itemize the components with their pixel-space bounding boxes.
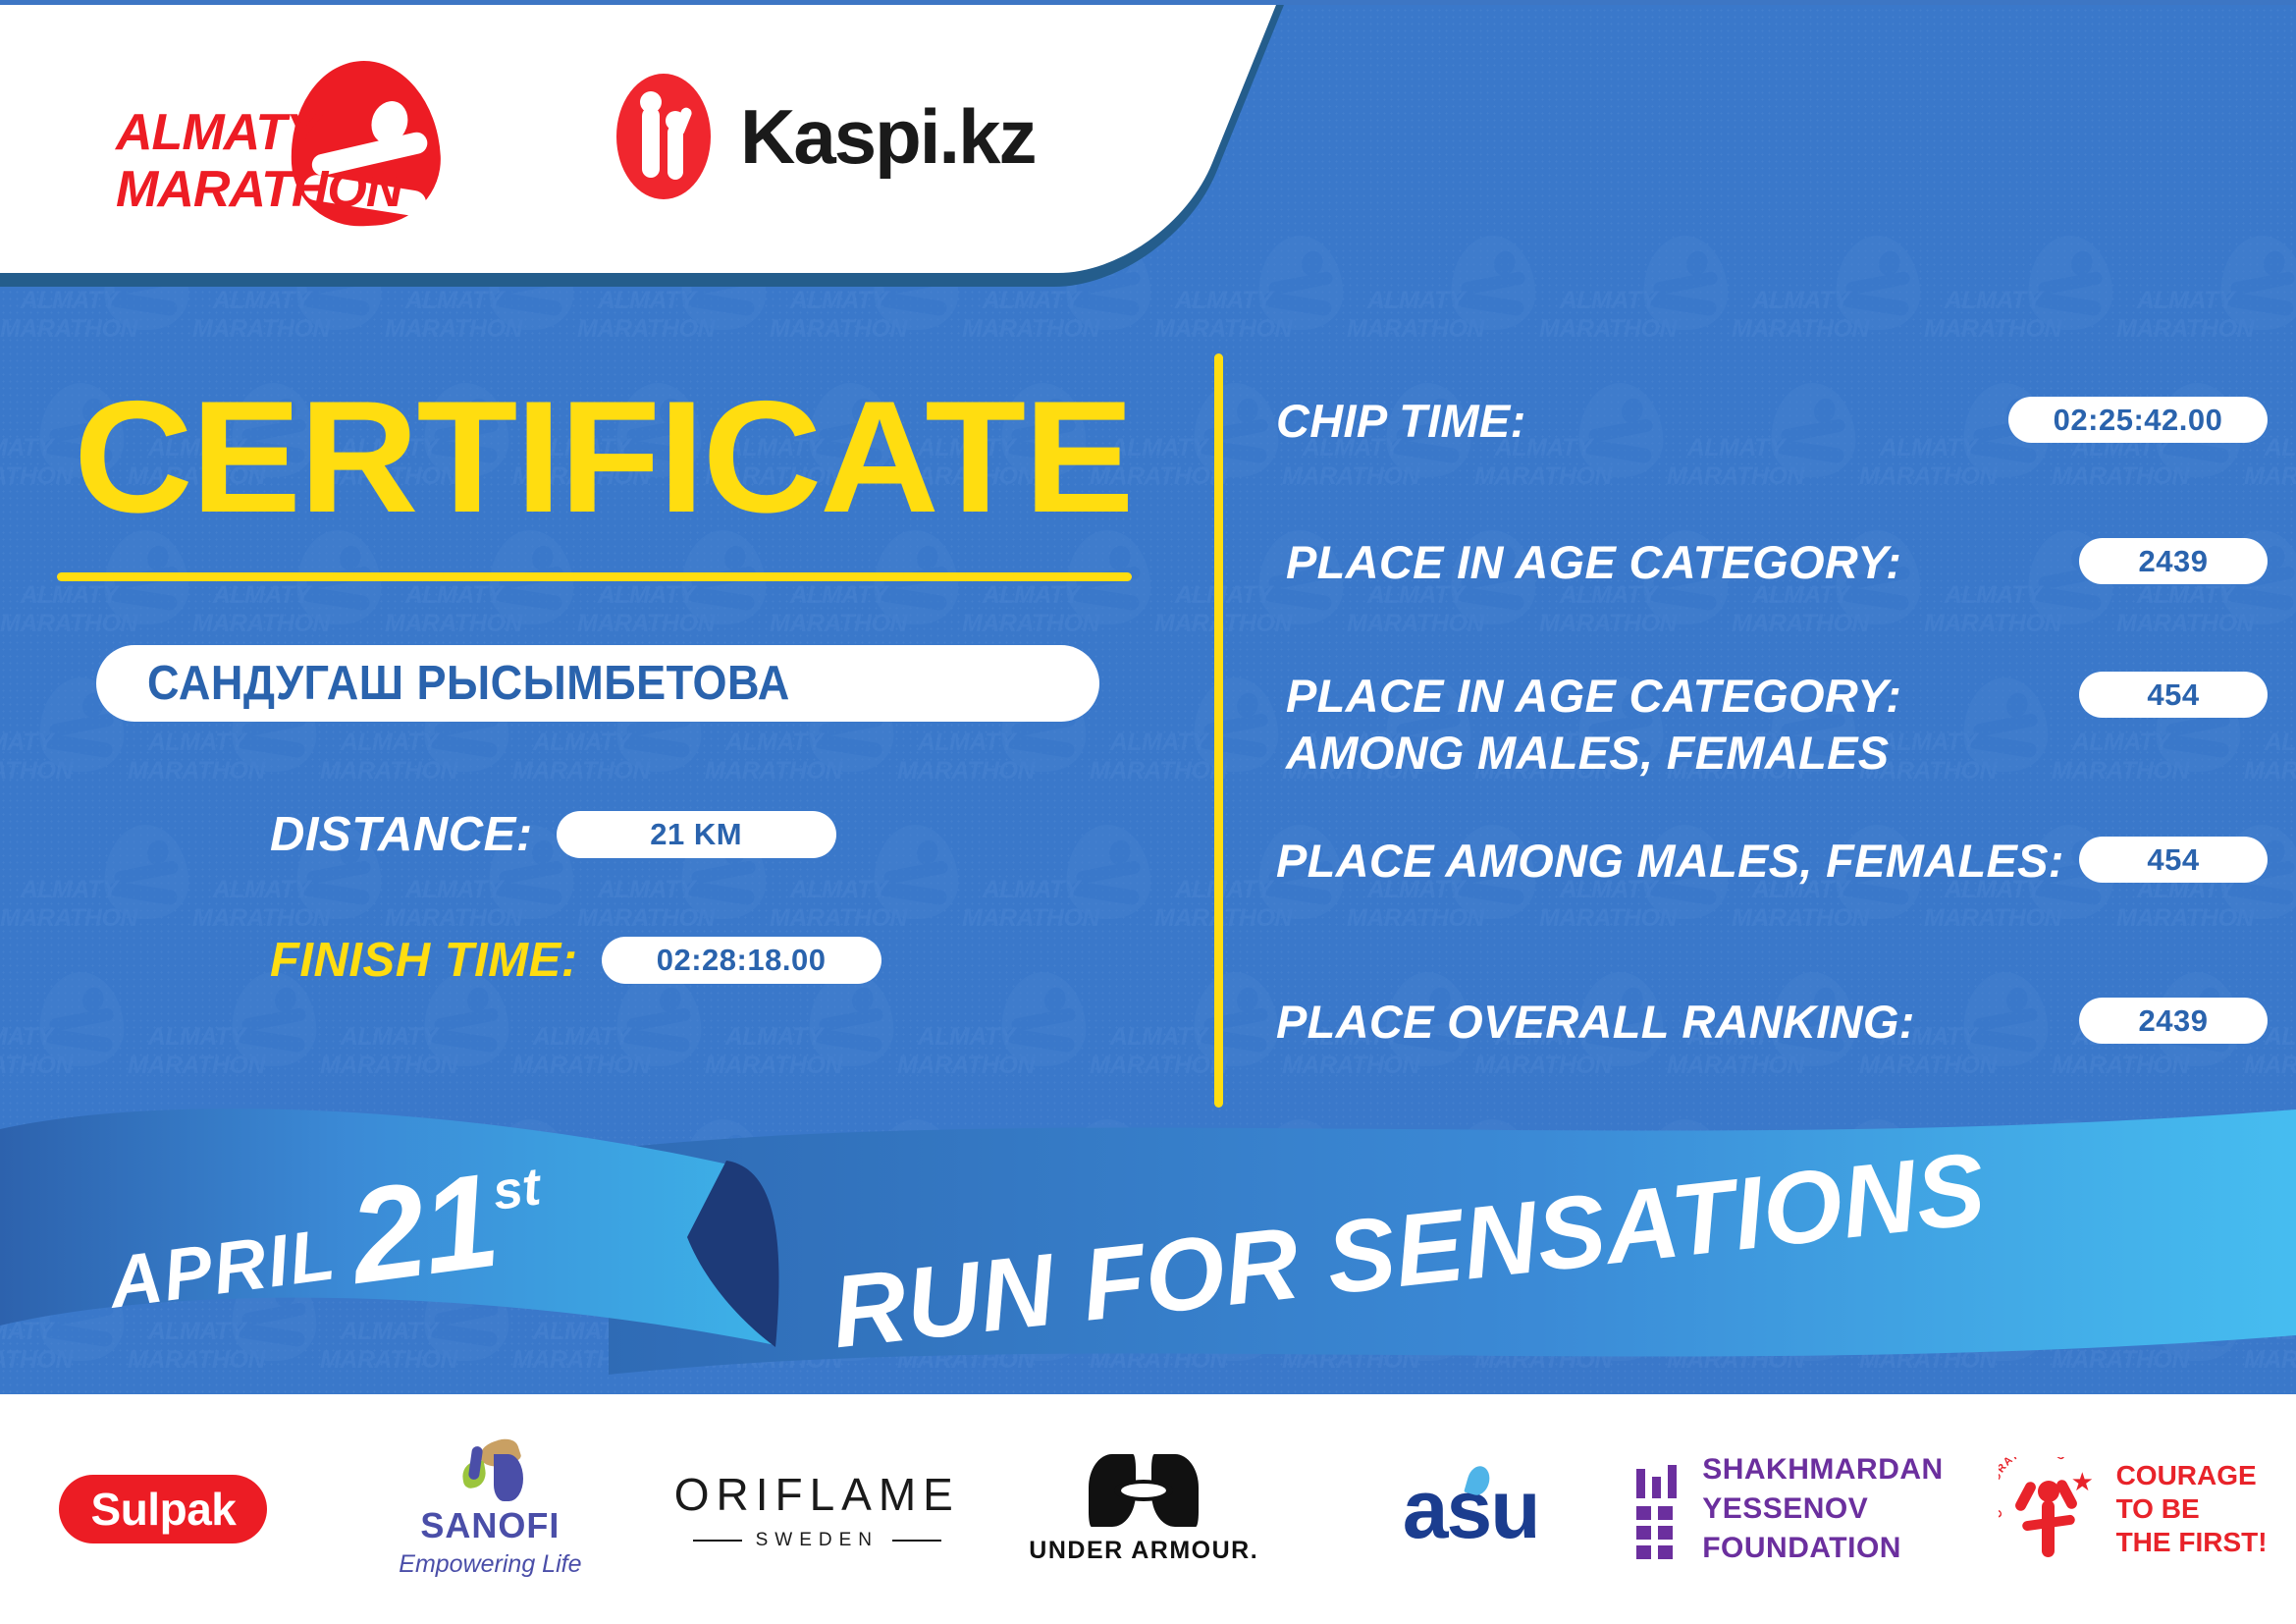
yessenov-symbol-icon xyxy=(1634,1465,1682,1553)
sponsor-corporate-fund: CORPORATE FUND ★ COURAGE TO BE THE FIRST… xyxy=(1969,1426,2296,1593)
kaspi-figure-icon xyxy=(616,74,711,199)
oriflame-wordmark: ORIFLAME xyxy=(674,1468,960,1521)
stat-value: 454 xyxy=(2147,677,2199,713)
stat-row: CHIP TIME: 02:25:42.00 xyxy=(1276,393,2268,450)
cf-line3: THE FIRST! xyxy=(2116,1526,2268,1559)
distance-label: DISTANCE: xyxy=(270,807,533,862)
stat-value-pill: 2439 xyxy=(2079,538,2268,584)
corporate-fund-symbol-icon: CORPORATE FUND ★ xyxy=(1999,1451,2105,1567)
sulpak-wordmark: Sulpak xyxy=(91,1483,237,1536)
finish-time-label: FINISH TIME: xyxy=(270,933,578,988)
kaspi-logo: Kaspi.kz xyxy=(616,74,1035,199)
top-border-rule xyxy=(0,0,2296,5)
stat-row: PLACE OVERALL RANKING: 2439 xyxy=(1276,994,2268,1051)
yessenov-wordmark: SHAKHMARDAN YESSENOV FOUNDATION xyxy=(1702,1450,1969,1568)
oriflame-sub: SWEDEN xyxy=(756,1530,879,1551)
sulpak-logo: Sulpak xyxy=(59,1475,267,1543)
participant-name-pill: САНДУГАШ РЫСЫМБЕТОВА xyxy=(96,645,1099,722)
figure-body-icon xyxy=(2042,1500,2055,1557)
sanofi-symbol-icon xyxy=(454,1440,525,1501)
event-day: 21 xyxy=(345,1164,503,1292)
under-armour-symbol-icon xyxy=(1089,1454,1199,1527)
cf-line2: TO BE xyxy=(2116,1492,2268,1526)
oriflame-rule-right xyxy=(892,1540,941,1542)
sanofi-tagline: Empowering Life xyxy=(399,1550,581,1579)
participant-name: САНДУГАШ РЫСЫМБЕТОВА xyxy=(147,656,790,711)
star-icon: ★ xyxy=(2071,1469,2094,1494)
stat-label: PLACE IN AGE CATEGORY: AMONG MALES, FEMA… xyxy=(1276,668,2079,782)
sponsor-bar: Sulpak SANOFI Empowering Life ORIFLAME xyxy=(0,1394,2296,1624)
distance-value: 21 KM xyxy=(650,817,742,852)
stat-value: 02:25:42.00 xyxy=(2054,403,2223,438)
stat-row: PLACE IN AGE CATEGORY: AMONG MALES, FEMA… xyxy=(1276,668,2268,782)
finish-time-value: 02:28:18.00 xyxy=(657,943,827,978)
under-armour-logo: UNDER ARMOUR. xyxy=(1029,1454,1258,1565)
ua-center-hole-icon xyxy=(1121,1484,1166,1497)
oriflame-logo: ORIFLAME SWEDEN xyxy=(674,1468,960,1551)
sanofi-wordmark: SANOFI xyxy=(399,1505,581,1546)
finish-time-row: FINISH TIME: 02:28:18.00 xyxy=(270,933,881,988)
stat-label: CHIP TIME: xyxy=(1276,393,2008,450)
certificate-canvas: ALMATYMARATHONALMATYMARATHONALMATYMARATH… xyxy=(0,0,2296,1624)
distance-value-pill: 21 KM xyxy=(557,811,836,858)
stat-value-pill: 02:25:42.00 xyxy=(2008,397,2268,443)
sponsor-yessenov-foundation: SHAKHMARDAN YESSENOV FOUNDATION xyxy=(1634,1426,1970,1593)
header: ALMATY MARATHON Kaspi.kz xyxy=(0,0,2296,295)
sponsor-under-armour: UNDER ARMOUR. xyxy=(981,1426,1308,1593)
oriflame-rule-left xyxy=(693,1540,742,1542)
stat-label: PLACE AMONG MALES, FEMALES: xyxy=(1276,833,2079,890)
under-armour-wordmark: UNDER ARMOUR. xyxy=(1029,1537,1258,1565)
column-divider xyxy=(1214,353,1223,1108)
sponsor-sanofi: SANOFI Empowering Life xyxy=(327,1426,654,1593)
stat-label: PLACE OVERALL RANKING: xyxy=(1276,994,2079,1051)
asu-logo: asu xyxy=(1403,1462,1539,1557)
corporate-fund-wordmark: COURAGE TO BE THE FIRST! xyxy=(2116,1459,2268,1559)
yessenov-logo: SHAKHMARDAN YESSENOV FOUNDATION xyxy=(1634,1450,1970,1568)
yessenov-line1: SHAKHMARDAN YESSENOV xyxy=(1702,1450,1969,1529)
finish-time-value-pill: 02:28:18.00 xyxy=(602,937,881,984)
stat-value-pill: 454 xyxy=(2079,672,2268,718)
stat-row: PLACE AMONG MALES, FEMALES: 454 xyxy=(1276,833,2268,890)
cf-line1: COURAGE xyxy=(2116,1459,2268,1492)
page-title: CERTIFICATE xyxy=(74,378,1132,537)
sponsor-asu: asu xyxy=(1308,1426,1634,1593)
stat-value-pill: 2439 xyxy=(2079,998,2268,1044)
stat-value: 2439 xyxy=(2139,1003,2209,1039)
corporate-fund-logo: CORPORATE FUND ★ COURAGE TO BE THE FIRST… xyxy=(1999,1451,2268,1567)
stat-value: 2439 xyxy=(2139,544,2209,579)
kaspi-wordmark: Kaspi.kz xyxy=(740,92,1035,182)
stat-label: PLACE IN AGE CATEGORY: xyxy=(1276,534,2079,591)
title-underline xyxy=(57,572,1132,581)
sponsor-sulpak: Sulpak xyxy=(0,1426,327,1593)
sanofi-logo: SANOFI Empowering Life xyxy=(399,1440,581,1579)
almaty-marathon-wordmark: ALMATY MARATHON xyxy=(116,104,401,218)
distance-row: DISTANCE: 21 KM xyxy=(270,807,836,862)
event-day-suffix: st xyxy=(489,1156,544,1222)
stat-value-pill: 454 xyxy=(2079,837,2268,883)
stat-row: PLACE IN AGE CATEGORY: 2439 xyxy=(1276,534,2268,591)
kaspi-adult-body-icon xyxy=(642,107,660,178)
stat-value: 454 xyxy=(2147,842,2199,878)
almaty-marathon-logo: ALMATY MARATHON xyxy=(116,53,440,220)
yessenov-line2: FOUNDATION xyxy=(1702,1529,1969,1568)
sanofi-petal-blue-icon xyxy=(494,1454,523,1501)
event-ribbon: APRIL 21 st RUN FOR SENSATIONS xyxy=(0,1090,2296,1414)
sponsor-oriflame: ORIFLAME SWEDEN xyxy=(654,1426,981,1593)
